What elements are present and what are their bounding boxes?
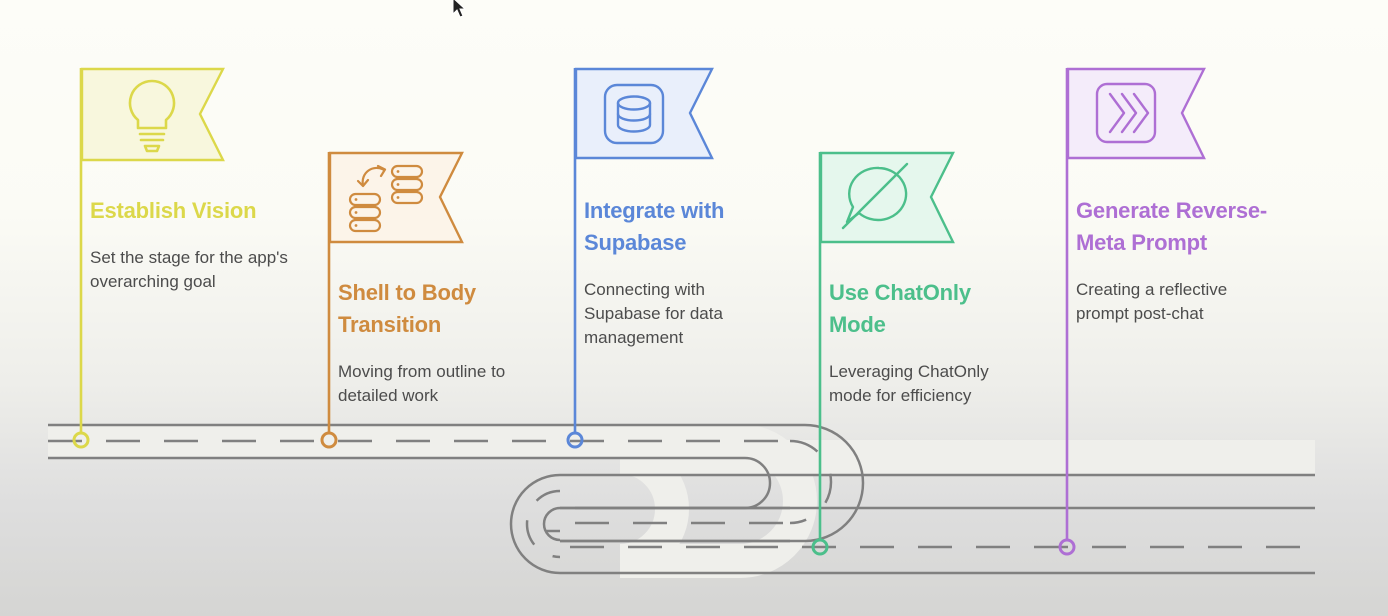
milestone-title: Integrate with Supabase — [584, 195, 784, 259]
milestone-generate-reverse-meta-prompt[interactable]: Generate Reverse-Meta Prompt Creating a … — [1054, 68, 1354, 326]
milestone-title: Use ChatOnly Mode — [829, 277, 1029, 341]
milestone-description: Connecting with Supabase for data manage… — [584, 278, 784, 350]
milestone-description: Leveraging ChatOnly mode for efficiency — [829, 360, 1029, 408]
flag-banner — [821, 153, 953, 242]
milestone-title: Shell to Body Transition — [338, 277, 538, 341]
flag-integrate-supabase — [562, 68, 862, 163]
flag-banner — [576, 69, 712, 158]
road-uturn-left — [511, 475, 560, 573]
milestone-description: Moving from outline to detailed work — [338, 360, 538, 408]
roadmap-canvas: Establish Vision Set the stage for the a… — [0, 0, 1388, 616]
milestone-description: Creating a reflective prompt post-chat — [1076, 278, 1276, 326]
milestone-title: Establish Vision — [90, 195, 290, 227]
flag-establish-vision — [68, 68, 368, 163]
mouse-pointer-icon — [452, 0, 466, 19]
flag-reverse-meta-prompt — [1054, 68, 1354, 163]
milestone-title: Generate Reverse-Meta Prompt — [1076, 195, 1276, 259]
milestone-text-reverse-meta-prompt: Generate Reverse-Meta Prompt Creating a … — [1054, 195, 1354, 326]
milestone-description: Set the stage for the app's overarching … — [90, 246, 290, 294]
